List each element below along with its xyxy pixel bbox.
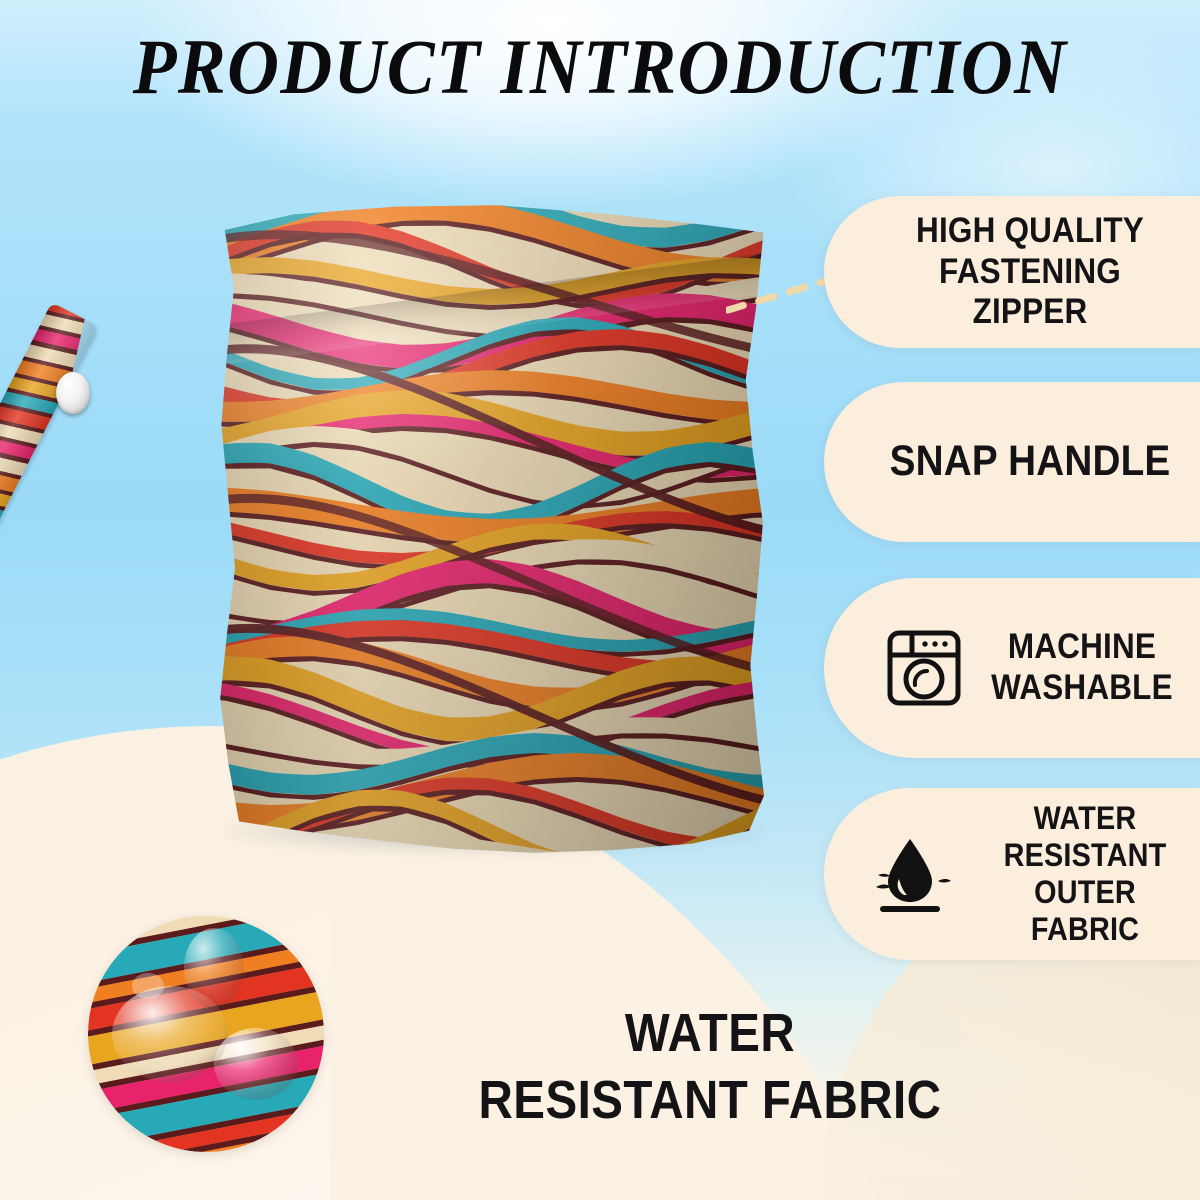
bottom-caption-line-1: WATER	[376, 1000, 1045, 1067]
feature-label-water-resistant: WATER RESISTANT OUTER FABRIC	[982, 800, 1189, 948]
fabric-detail-circle	[88, 916, 324, 1152]
feature-line-1: MACHINE	[991, 627, 1173, 668]
feature-line-2: WASHABLE	[991, 668, 1173, 709]
feature-label-machine-washable: MACHINE WASHABLE	[991, 627, 1173, 708]
feature-line-1: HIGH QUALITY	[879, 211, 1181, 252]
feature-callout-water-resistant[interactable]: WATER RESISTANT OUTER FABRIC	[824, 788, 1200, 960]
bottom-caption: WATER RESISTANT FABRIC	[376, 1000, 1045, 1134]
fabric-detail-image	[88, 916, 324, 1152]
bag-body	[202, 204, 772, 854]
feature-line-2: RESISTANT	[982, 837, 1189, 874]
feature-line-3: OUTER FABRIC	[982, 874, 1189, 948]
snap-button-icon	[56, 372, 90, 414]
feature-callout-snap-handle[interactable]: SNAP HANDLE	[824, 382, 1200, 542]
feature-callout-machine-washable[interactable]: MACHINE WASHABLE	[824, 578, 1200, 758]
feature-callout-zipper[interactable]: HIGH QUALITY FASTENING ZIPPER	[824, 196, 1200, 348]
page-title: PRODUCT INTRODUCTION	[48, 22, 1152, 112]
feature-label-zipper: HIGH QUALITY FASTENING ZIPPER	[843, 211, 1181, 333]
water-drop-icon	[868, 833, 952, 915]
feature-line-1: SNAP HANDLE	[890, 437, 1171, 487]
bottom-caption-line-2: RESISTANT FABRIC	[376, 1067, 1045, 1134]
fabric-wave-pattern	[202, 204, 772, 854]
feature-line-1: WATER	[982, 800, 1189, 837]
product-image	[24, 196, 814, 876]
feature-line-2: FASTENING ZIPPER	[879, 252, 1181, 333]
infographic-canvas: PRODUCT INTRODUCTION	[0, 0, 1200, 1200]
washing-machine-icon	[885, 628, 963, 708]
feature-label-snap-handle: SNAP HANDLE	[854, 437, 1171, 487]
